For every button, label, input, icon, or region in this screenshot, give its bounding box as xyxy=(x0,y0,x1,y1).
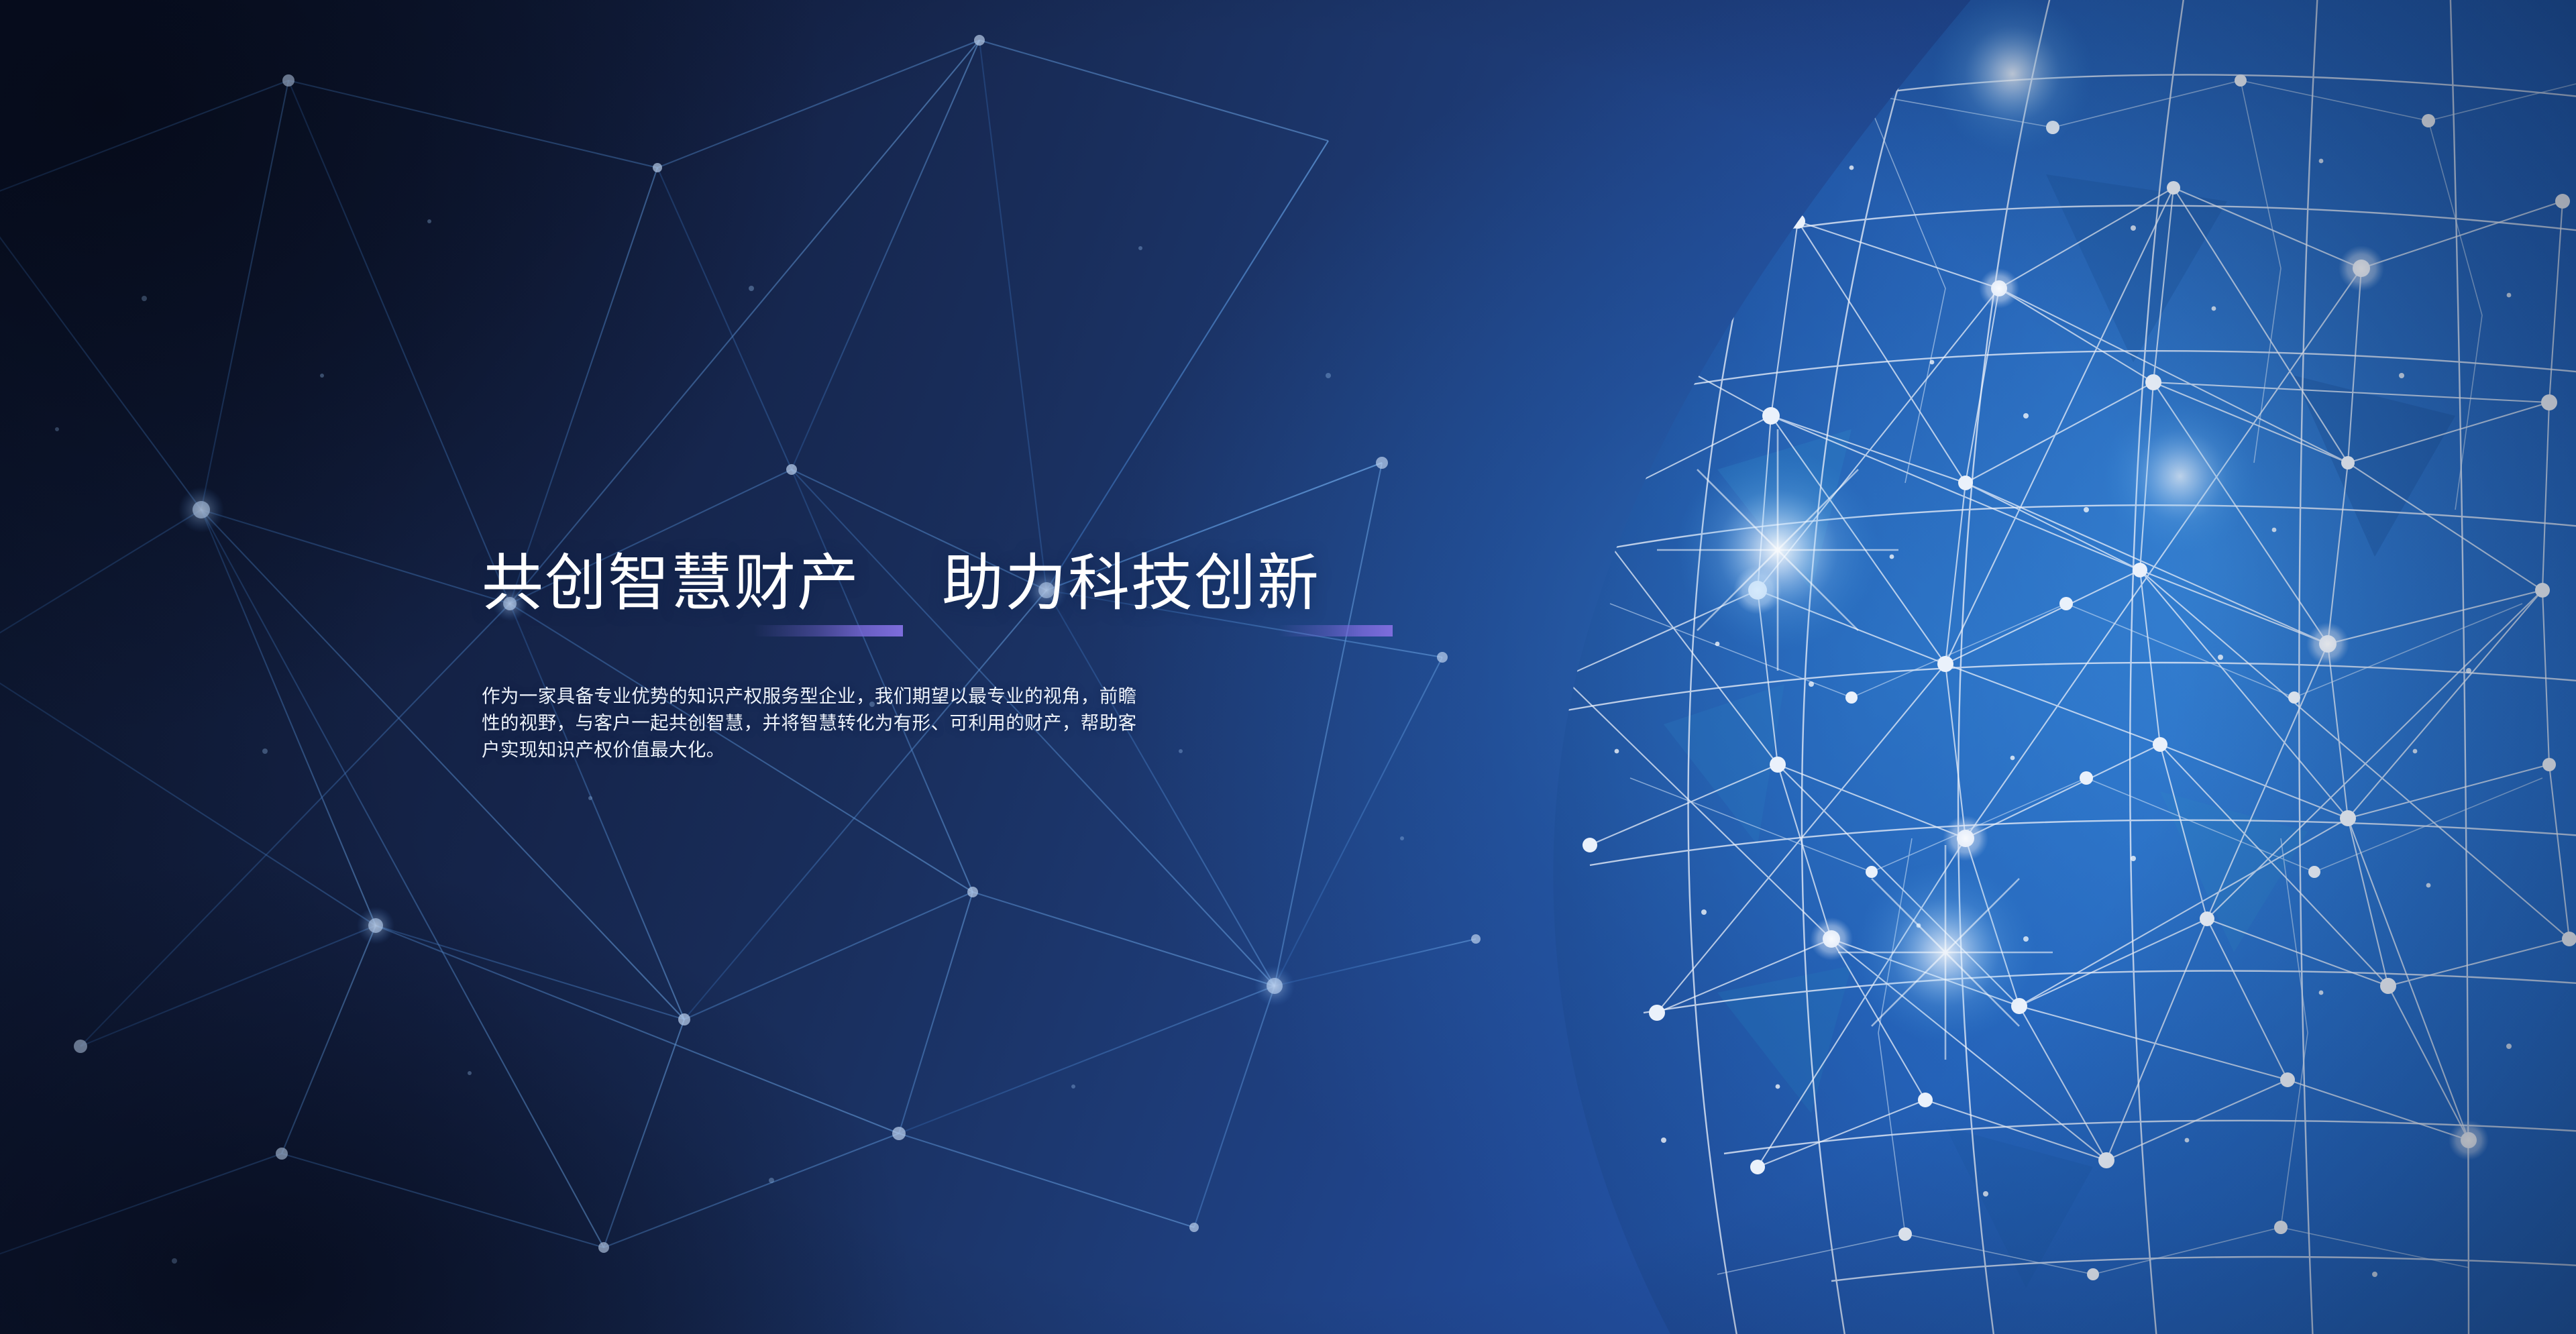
description-line-2: 性的视野，与客户一起共创智慧，并将智慧转化为有形、可利用的财产，帮助客 xyxy=(482,710,1260,736)
headline-part-2: 助力科技创新 xyxy=(942,550,1320,617)
headline-underline-left xyxy=(754,625,903,636)
banner-description: 作为一家具备专业优势的知识产权服务型企业，我们期望以最专业的视角，前瞻 性的视野… xyxy=(482,683,1260,763)
page-title: 共创智慧财产 助力科技创新 xyxy=(482,550,1434,617)
hero-banner: 共创智慧财产 助力科技创新 作为一家具备专业优势的知识产权服务型企业，我们期望以… xyxy=(0,0,2576,1334)
description-line-1: 作为一家具备专业优势的知识产权服务型企业，我们期望以最专业的视角，前瞻 xyxy=(482,683,1260,710)
description-line-3: 户实现知识产权价值最大化。 xyxy=(482,736,1260,763)
headline-underline-right xyxy=(1279,625,1393,636)
headline-part-1: 共创智慧财产 xyxy=(482,550,860,617)
banner-content: 共创智慧财产 助力科技创新 作为一家具备专业优势的知识产权服务型企业，我们期望以… xyxy=(482,550,1434,763)
headline-accent-bars xyxy=(482,625,1434,645)
